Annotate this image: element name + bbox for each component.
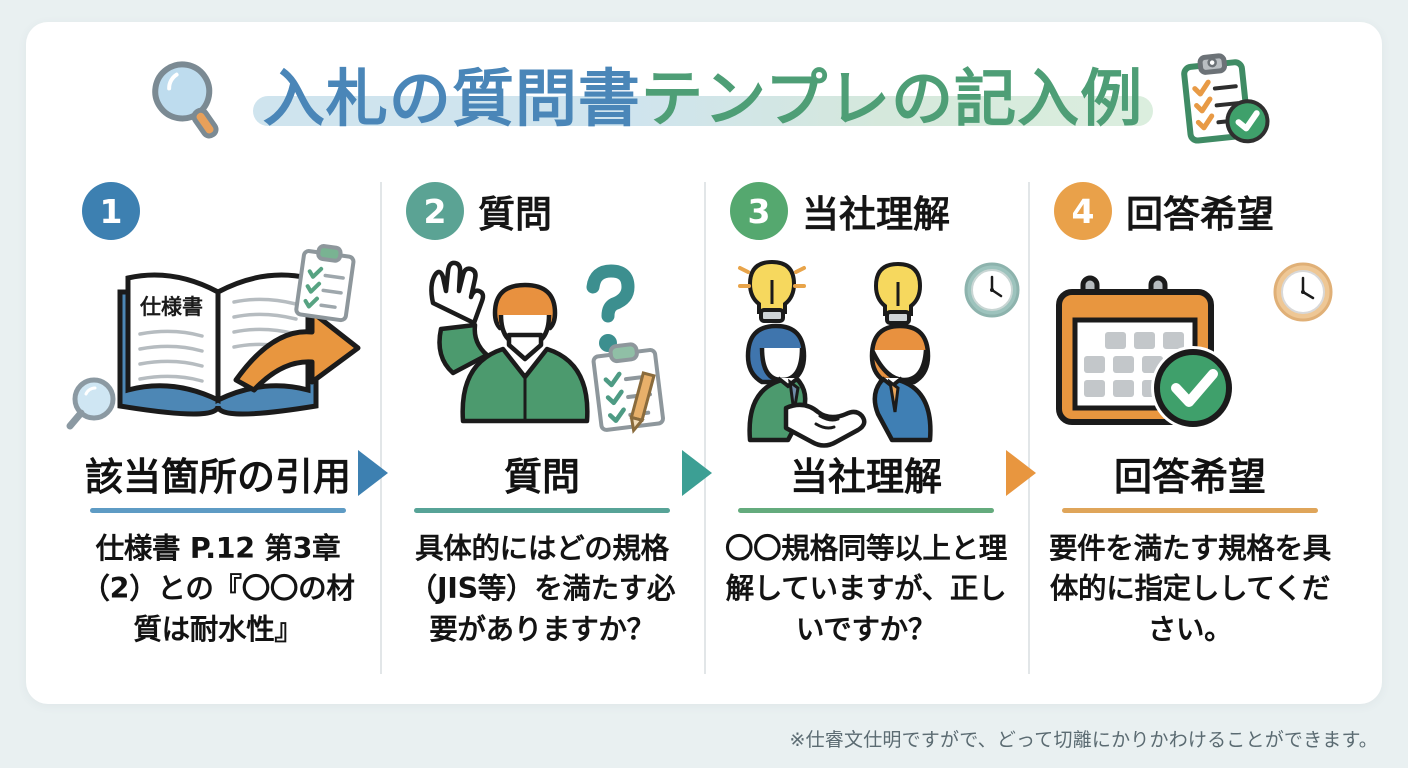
small-clipboard-icon	[292, 242, 364, 328]
step-column-4[interactable]: 4 回答希望	[1028, 172, 1352, 684]
calendar-check-icon	[1038, 250, 1342, 442]
step-3-rule	[738, 508, 993, 513]
step-column-2[interactable]: 2 質問	[380, 172, 704, 684]
page-title-primary: 入札の質問書	[263, 62, 641, 135]
magnifying-glass-icon	[139, 51, 235, 147]
step-3-header: 3 当社理解	[714, 172, 1018, 250]
step-4-head-label: 回答希望	[1126, 184, 1274, 238]
step-1-header: 1	[66, 172, 370, 250]
step-number-badge-4: 4	[1054, 182, 1112, 240]
steps-container: 1 仕様書	[56, 172, 1352, 684]
step-4-header: 4 回答希望	[1038, 172, 1342, 250]
book-label: 仕様書	[139, 295, 203, 319]
step-2-caption: 質問	[504, 446, 580, 501]
step-number-badge-3: 3	[730, 182, 788, 240]
step-3-caption-row: 当社理解	[714, 442, 1018, 504]
step-4-caption-row: 回答希望	[1038, 442, 1342, 504]
handshake-agreement-icon	[714, 250, 1018, 442]
step-2-body: 具体的にはどの規格（JIS等）を満たす必要がありますか？	[396, 529, 688, 650]
step-column-1[interactable]: 1 仕様書	[56, 172, 380, 684]
footer-note: ※仕睿文仕明ですがで、どって切離にかりかわけることができます。	[789, 725, 1378, 752]
page-title-secondary: テンプレの記入例	[641, 62, 1143, 135]
step-2-rule	[414, 508, 669, 513]
step-3-caption: 当社理解	[790, 446, 942, 501]
step-4-body: 要件を満たす規格を具体的に指定ししてください。	[1044, 529, 1336, 650]
person-raising-hand-question-icon	[390, 250, 694, 442]
step-2-header: 2 質問	[390, 172, 694, 250]
step-1-caption-row: 該当箇所の引用	[66, 442, 370, 504]
step-2-caption-row: 質問	[390, 442, 694, 504]
step-arrow-3	[1006, 450, 1036, 496]
step-number-badge-1: 1	[82, 182, 140, 240]
step-1-caption: 該当箇所の引用	[85, 446, 351, 501]
step-1-rule	[90, 508, 345, 513]
step-column-3[interactable]: 3 当社理解	[704, 172, 1028, 684]
step-arrow-1	[358, 450, 388, 496]
step-number-badge-2: 2	[406, 182, 464, 240]
step-4-caption: 回答希望	[1114, 446, 1266, 501]
step-4-rule	[1062, 508, 1317, 513]
clock-icon	[1275, 264, 1331, 320]
clipboard-check-icon	[1171, 50, 1269, 148]
step-1-body: 仕様書 P.12 第3章（2）との『〇〇の材質は耐水性』	[72, 529, 364, 650]
step-2-head-label: 質問	[478, 184, 552, 238]
main-card: 入札の質問書テンプレの記入例	[26, 22, 1382, 704]
title-row: 入札の質問書テンプレの記入例	[26, 50, 1382, 148]
step-3-body: 〇〇規格同等以上と理解していますが、正しいですか？	[720, 529, 1012, 650]
open-book-with-arrow-icon: 仕様書	[66, 250, 370, 442]
step-arrow-2	[682, 450, 712, 496]
clock-icon	[966, 264, 1018, 316]
step-3-head-label: 当社理解	[802, 184, 950, 238]
